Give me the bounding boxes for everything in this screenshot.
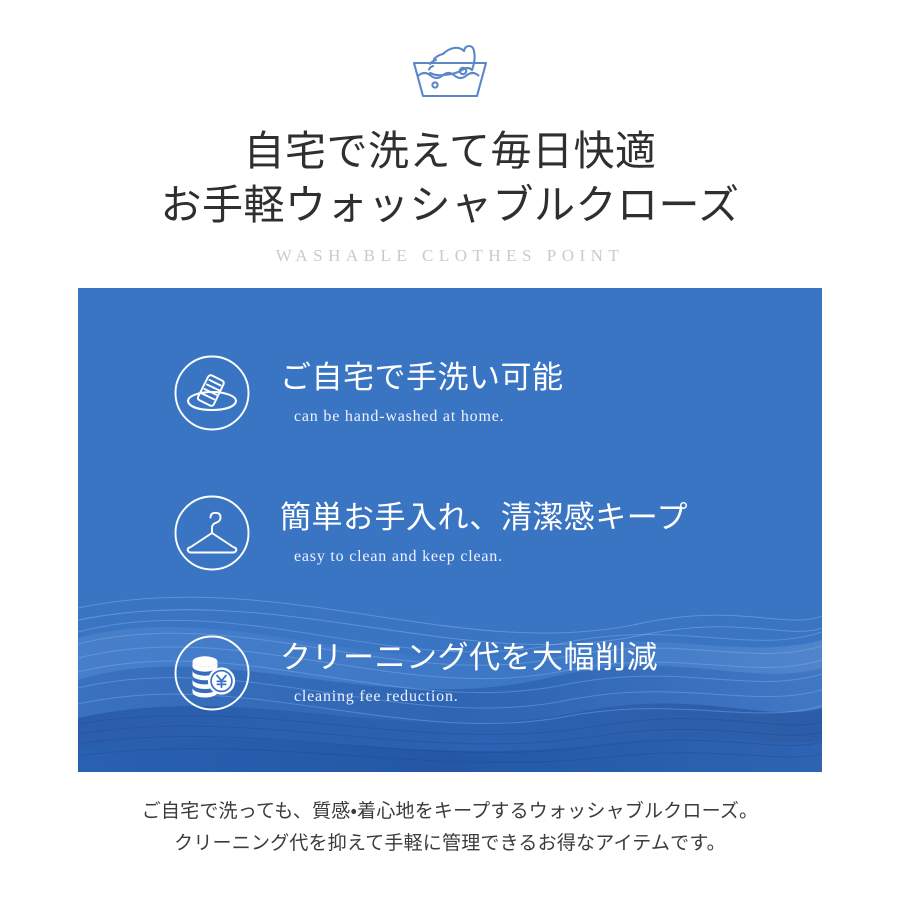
feature-caption-en: can be hand-washed at home. — [294, 407, 822, 427]
page-title-line-1: 自宅で洗えて毎日快適 — [0, 124, 900, 178]
feature-text: ご自宅で手洗い可能 can be hand-washed at home. — [280, 358, 822, 427]
page-header: 自宅で洗えて毎日快適 お手軽ウォッシャブルクローズ WASHABLE CLOTH… — [0, 0, 900, 266]
feature-row: クリーニング代を大幅削減 cleaning fee reduction. — [78, 614, 822, 731]
promo-page: 自宅で洗えて毎日快適 お手軽ウォッシャブルクローズ WASHABLE CLOTH… — [0, 0, 900, 900]
page-footer: ご自宅で洗っても、質感・着心地をキープするウォッシャブルクローズ。 クリーニング… — [0, 795, 900, 859]
features-panel: ご自宅で手洗い可能 can be hand-washed at home. — [78, 288, 822, 772]
footer-line-2: クリーニング代を抑えて手軽に管理できるお得なアイテムです。 — [0, 827, 900, 859]
feature-text: クリーニング代を大幅削減 cleaning fee reduction. — [280, 638, 822, 707]
feature-row: 簡単お手入れ、清潔感キープ easy to clean and keep cle… — [78, 474, 822, 591]
page-subtitle-en: WASHABLE CLOTHES POINT — [0, 246, 900, 266]
feature-title-ja: クリーニング代を大幅削減 — [280, 638, 822, 678]
washtub-washboard-icon — [172, 353, 252, 433]
feature-row: ご自宅で手洗い可能 can be hand-washed at home. — [78, 334, 822, 451]
feature-list: ご自宅で手洗い可能 can be hand-washed at home. — [78, 288, 822, 731]
page-title-line-2: お手軽ウォッシャブルクローズ — [0, 178, 900, 232]
clothes-hanger-icon — [172, 493, 252, 573]
feature-caption-en: cleaning fee reduction. — [294, 687, 822, 707]
feature-text: 簡単お手入れ、清潔感キープ easy to clean and keep cle… — [280, 498, 822, 567]
footer-line-1: ご自宅で洗っても、質感・着心地をキープするウォッシャブルクローズ。 — [0, 795, 900, 827]
yen-coins-icon — [172, 633, 252, 713]
title-block: 自宅で洗えて毎日快適 お手軽ウォッシャブルクローズ WASHABLE CLOTH… — [0, 124, 900, 266]
feature-title-ja: ご自宅で手洗い可能 — [280, 358, 822, 398]
feature-caption-en: easy to clean and keep clean. — [294, 547, 822, 567]
hand-wash-basin-icon — [402, 30, 498, 102]
feature-title-ja: 簡単お手入れ、清潔感キープ — [280, 498, 822, 538]
